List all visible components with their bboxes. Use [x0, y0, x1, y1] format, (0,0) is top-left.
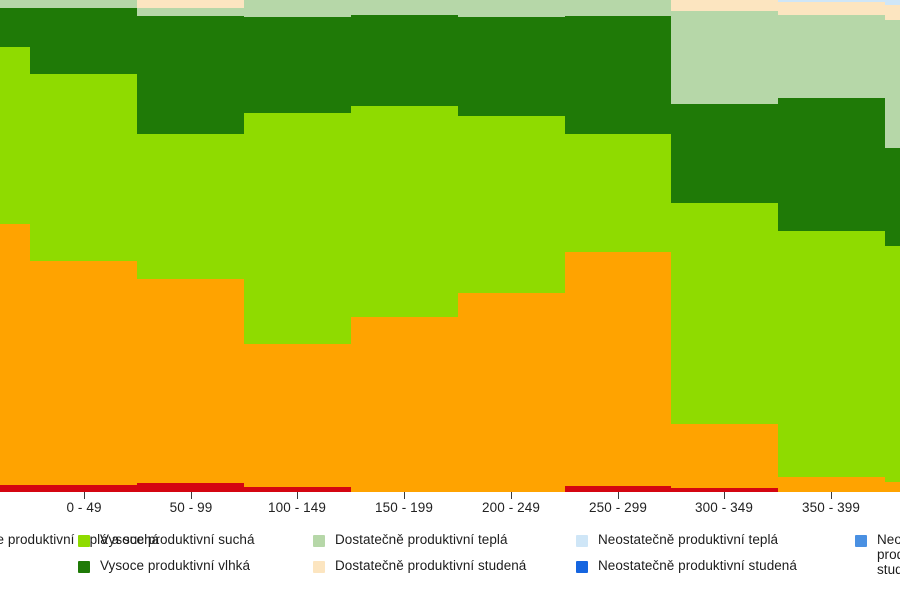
stack-segment[interactable]: [351, 15, 458, 106]
stack-segment[interactable]: [244, 113, 351, 344]
stack-segment[interactable]: [137, 279, 244, 483]
x-axis: 0 - 4950 - 99100 - 149150 - 199200 - 249…: [0, 492, 900, 536]
stack-segment[interactable]: [351, 106, 458, 318]
stack-segment[interactable]: [30, 0, 137, 8]
stack-segment[interactable]: [137, 134, 244, 279]
stack-segment[interactable]: [565, 134, 672, 252]
stack-segment[interactable]: [778, 98, 885, 231]
legend-item-label: Neostatečně produktivní studená: [877, 531, 900, 577]
stack-segment[interactable]: [778, 231, 885, 477]
stack-segment[interactable]: [458, 293, 565, 492]
axis-tick-label: 50 - 99: [170, 500, 213, 515]
column-300-349[interactable]: [671, 0, 778, 492]
axis-tick: [404, 492, 405, 499]
stack-segment[interactable]: [351, 0, 458, 15]
stack-segment[interactable]: [671, 0, 778, 11]
stack-segment[interactable]: [885, 5, 900, 20]
column-150-199[interactable]: [351, 0, 458, 492]
axis-tick: [831, 492, 832, 499]
column-100-149[interactable]: [244, 0, 351, 492]
chart-legend: Vysoce produktivní teplá a sucháVysoce p…: [0, 531, 900, 600]
stack-segment[interactable]: [351, 317, 458, 492]
legend-item[interactable]: Vysoce produktivní vlhká: [78, 557, 255, 581]
legend-swatch-icon: [313, 535, 325, 547]
axis-tick-label: 150 - 199: [375, 500, 433, 515]
column-clipped-left[interactable]: [0, 0, 30, 492]
stack-segment[interactable]: [0, 224, 30, 485]
legend-swatch-icon: [576, 535, 588, 547]
stack-segment[interactable]: [671, 203, 778, 424]
stack-segment[interactable]: [0, 47, 30, 224]
stack-segment[interactable]: [565, 0, 672, 16]
legend-item-label: Neostatečně produktivní studená: [598, 557, 797, 573]
stack-segment[interactable]: [885, 482, 900, 492]
stack-segment[interactable]: [137, 483, 244, 492]
stack-segment[interactable]: [137, 16, 244, 134]
stack-segment[interactable]: [671, 424, 778, 488]
stack-segment[interactable]: [885, 148, 900, 246]
legend-item[interactable]: Neostatečně produktivní studená: [576, 557, 797, 581]
column-250-299[interactable]: [565, 0, 672, 492]
axis-tick-label: 250 - 299: [589, 500, 647, 515]
stack-segment[interactable]: [30, 74, 137, 261]
legend-item[interactable]: Dostatečně produktivní teplá: [313, 531, 526, 555]
axis-tick-label: 100 - 149: [268, 500, 326, 515]
legend-column: Neostatečně produktivní studená: [855, 531, 900, 557]
legend-column: Neostatečně produktivní tepláNeostatečně…: [576, 531, 797, 583]
axis-tick: [618, 492, 619, 499]
legend-item-label: Vysoce produktivní suchá: [100, 531, 255, 547]
legend-swatch-icon: [313, 561, 325, 573]
column-200-249[interactable]: [458, 0, 565, 492]
axis-tick-label: 0 - 49: [66, 500, 101, 515]
stack-segment[interactable]: [244, 17, 351, 113]
axis-tick: [84, 492, 85, 499]
axis-tick-label: 350 - 399: [802, 500, 860, 515]
column-50-99[interactable]: [137, 0, 244, 492]
axis-tick: [724, 492, 725, 499]
axis-tick: [191, 492, 192, 499]
stack-segment[interactable]: [458, 0, 565, 17]
stack-segment[interactable]: [30, 8, 137, 74]
legend-item[interactable]: Vysoce produktivní suchá: [78, 531, 255, 555]
stack-segment[interactable]: [778, 15, 885, 99]
axis-tick-label: 200 - 249: [482, 500, 540, 515]
stack-segment[interactable]: [30, 261, 137, 485]
stack-segment[interactable]: [137, 0, 244, 8]
legend-swatch-icon: [855, 535, 867, 547]
legend-item-label: Dostatečně produktivní studená: [335, 557, 526, 573]
column-clipped-right[interactable]: [885, 0, 900, 492]
legend-item[interactable]: Neostatečně produktivní studená: [855, 531, 900, 555]
stack-segment[interactable]: [0, 485, 30, 492]
stacked-column-chart: 0 - 4950 - 99100 - 149150 - 199200 - 249…: [0, 0, 900, 600]
axis-tick-label: 300 - 349: [695, 500, 753, 515]
stack-segment[interactable]: [458, 116, 565, 293]
stack-segment[interactable]: [671, 11, 778, 104]
stack-segment[interactable]: [778, 477, 885, 492]
legend-swatch-icon: [576, 561, 588, 573]
stack-segment[interactable]: [671, 104, 778, 202]
stack-segment[interactable]: [244, 344, 351, 487]
legend-item[interactable]: Neostatečně produktivní teplá: [576, 531, 797, 555]
stack-segment[interactable]: [0, 0, 30, 8]
legend-item-label: Dostatečně produktivní teplá: [335, 531, 508, 547]
axis-tick: [297, 492, 298, 499]
legend-swatch-icon: [78, 561, 90, 573]
axis-tick: [511, 492, 512, 499]
legend-swatch-icon: [78, 535, 90, 547]
stack-segment[interactable]: [885, 20, 900, 148]
stack-segment[interactable]: [30, 485, 137, 492]
legend-column: Vysoce produktivní sucháVysoce produktiv…: [78, 531, 255, 583]
stack-segment[interactable]: [778, 2, 885, 15]
stack-segment[interactable]: [458, 17, 565, 115]
column-350-399[interactable]: [778, 0, 885, 492]
stack-segment[interactable]: [885, 246, 900, 482]
legend-item[interactable]: Dostatečně produktivní studená: [313, 557, 526, 581]
legend-item-label: Neostatečně produktivní teplá: [598, 531, 778, 547]
legend-column: Dostatečně produktivní tepláDostatečně p…: [313, 531, 526, 583]
stack-segment[interactable]: [0, 8, 30, 47]
stack-segment[interactable]: [565, 16, 672, 134]
legend-item-label: Vysoce produktivní vlhká: [100, 557, 250, 573]
column-0-49[interactable]: [30, 0, 137, 492]
plot-area: [0, 0, 900, 492]
stack-segment[interactable]: [565, 252, 672, 486]
stack-segment[interactable]: [244, 0, 351, 17]
stack-segment[interactable]: [137, 8, 244, 15]
